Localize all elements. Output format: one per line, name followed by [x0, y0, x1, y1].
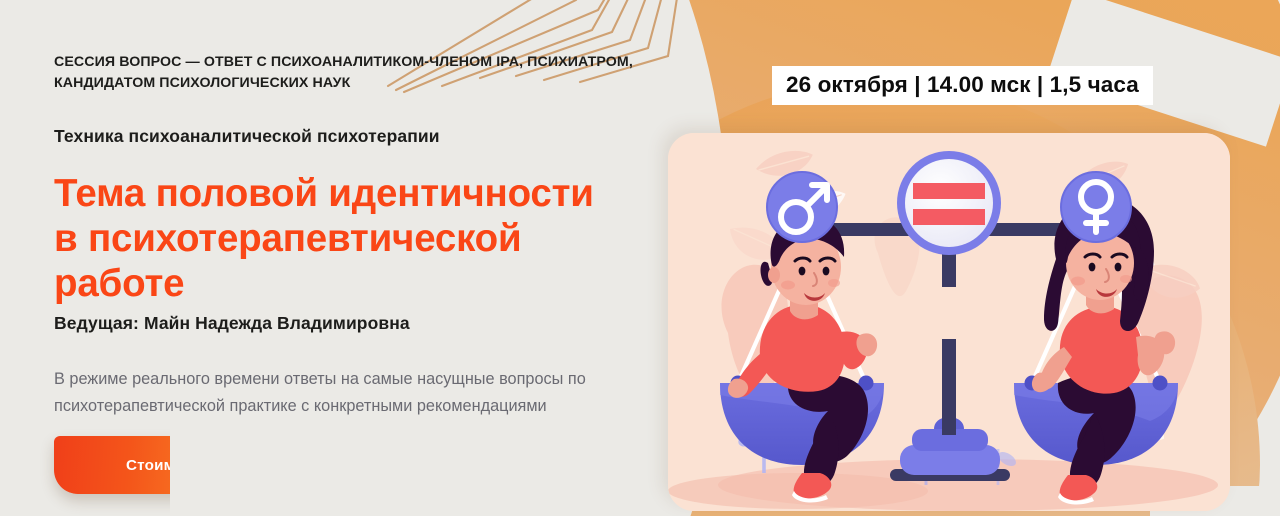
male-symbol-icon — [767, 172, 837, 242]
description-text: В режиме реального времени ответы на сам… — [54, 366, 599, 419]
text-column: СЕССИЯ ВОПРОС — ОТВЕТ С ПСИХОАНАЛИТИКОМ-… — [0, 0, 660, 516]
female-symbol-icon — [1061, 172, 1131, 242]
equals-symbol-icon — [897, 151, 1001, 255]
page-title: Тема половой идентичности в психотерапев… — [54, 171, 660, 306]
balance-scale-illustration — [668, 133, 1230, 511]
date-badge: 26 октября | 14.00 мск | 1,5 часа — [772, 66, 1153, 105]
promo-banner: СЕССИЯ ВОПРОС — ОТВЕТ С ПСИХОАНАЛИТИКОМ-… — [0, 0, 1280, 516]
headline-line-2: в психотерапевтической работе — [54, 216, 660, 306]
course-subtitle: Техника психоаналитической психотерапии — [54, 126, 660, 147]
illustration-card — [668, 133, 1230, 511]
presenter-name: Ведущая: Майн Надежда Владимировна — [54, 313, 660, 334]
kicker-text: СЕССИЯ ВОПРОС — ОТВЕТ С ПСИХОАНАЛИТИКОМ-… — [54, 52, 634, 93]
headline-line-1: Тема половой идентичности — [54, 172, 594, 215]
